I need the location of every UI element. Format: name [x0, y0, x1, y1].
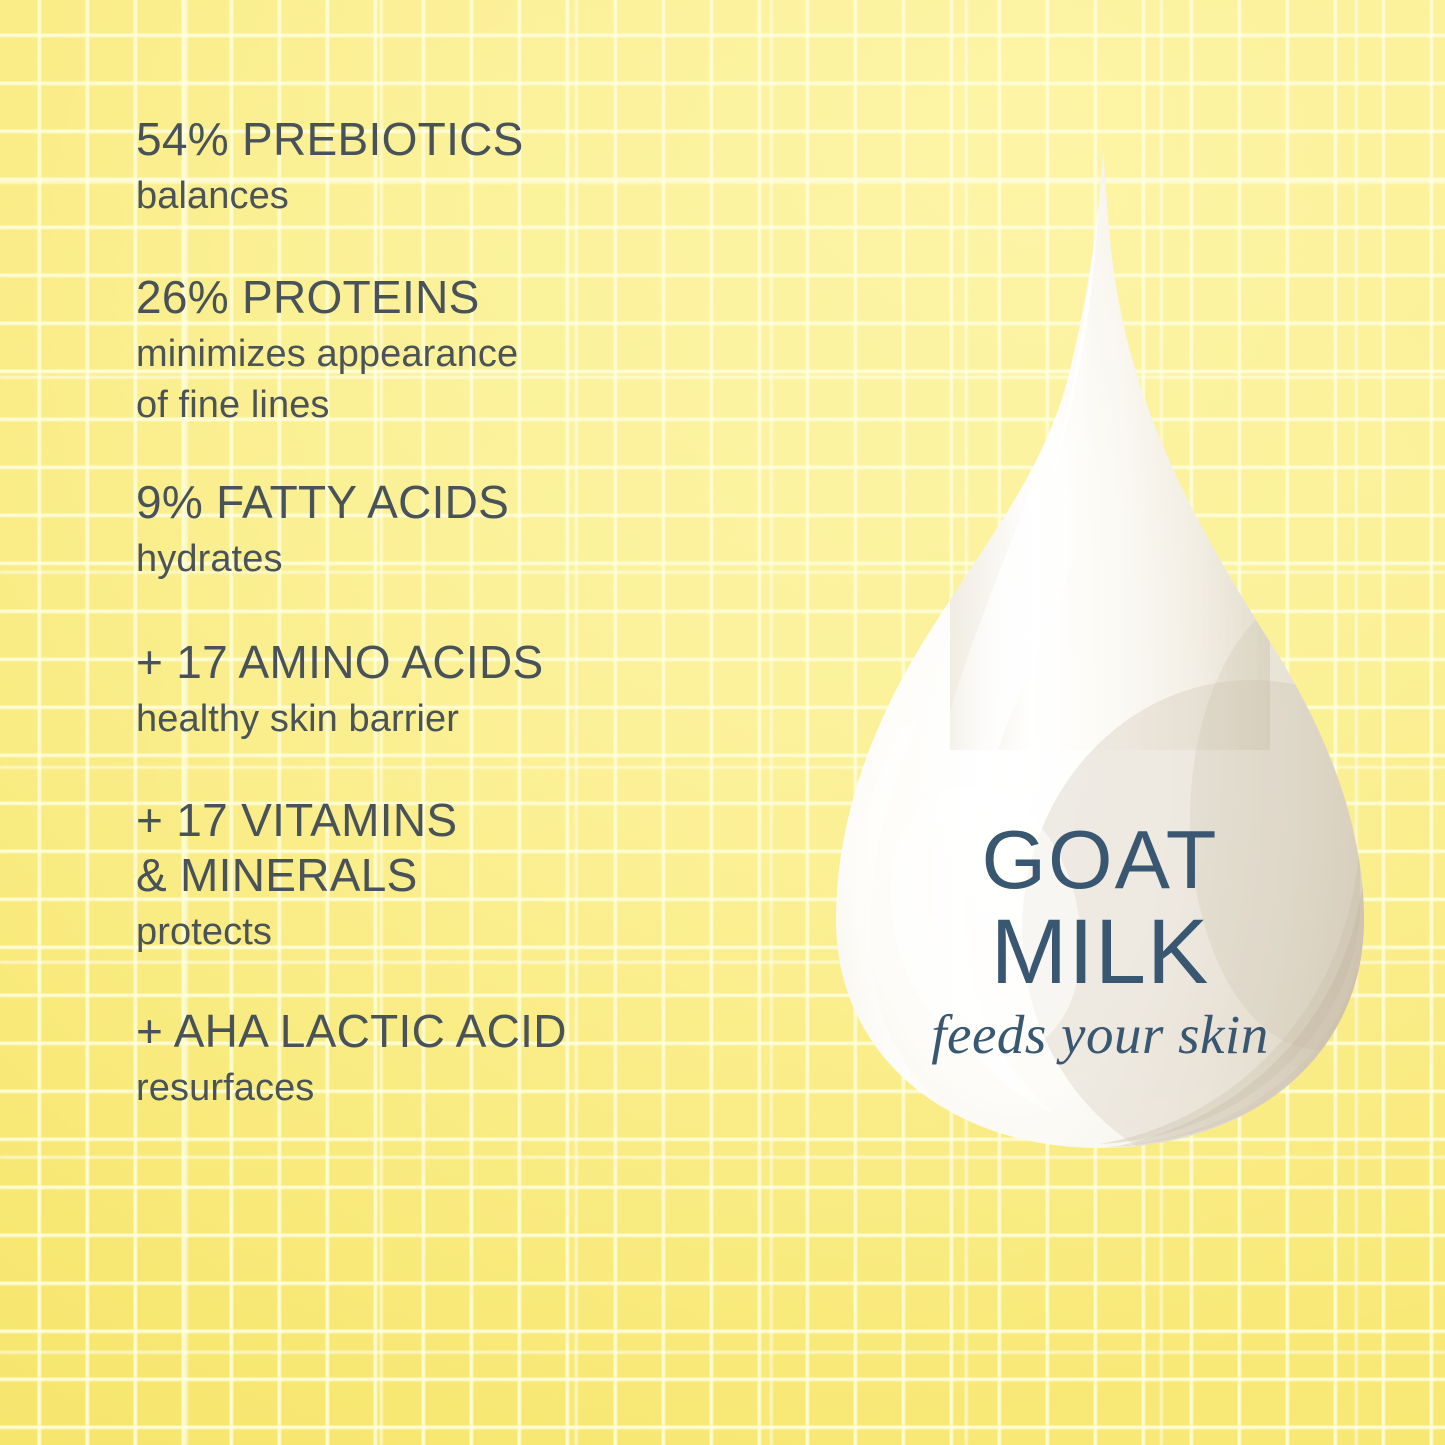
- fact-item-amino-acids: + 17 AMINO ACIDS healthy skin barrier: [136, 635, 856, 745]
- fact-item-fatty-acids: 9% FATTY ACIDS hydrates: [136, 475, 856, 585]
- fact-benefit: resurfaces: [136, 1063, 856, 1114]
- fact-benefit: healthy skin barrier: [136, 694, 856, 745]
- fact-item-proteins: 26% PROTEINS minimizes appearance of fin…: [136, 270, 856, 431]
- fact-headline: 26% PROTEINS: [136, 270, 856, 325]
- infographic-canvas: 54% PREBIOTICS balances 26% PROTEINS min…: [0, 0, 1445, 1445]
- fact-headline: + 17 VITAMINS & MINERALS: [136, 793, 856, 903]
- fact-benefit: hydrates: [136, 534, 856, 585]
- fact-benefit: balances: [136, 171, 856, 222]
- milk-droplet-icon: [800, 130, 1400, 1170]
- fact-benefit: protects: [136, 907, 856, 958]
- milk-droplet-graphic: GOAT MILK feeds your skin: [800, 130, 1400, 1170]
- fact-headline: + 17 AMINO ACIDS: [136, 635, 856, 690]
- fact-item-aha-lactic-acid: + AHA LACTIC ACID resurfaces: [136, 1004, 856, 1114]
- fact-headline: 9% FATTY ACIDS: [136, 475, 856, 530]
- fact-item-vitamins-minerals: + 17 VITAMINS & MINERALS protects: [136, 793, 856, 958]
- ingredient-fact-list: 54% PREBIOTICS balances 26% PROTEINS min…: [136, 112, 856, 1114]
- fact-headline: + AHA LACTIC ACID: [136, 1004, 856, 1059]
- fact-benefit: minimizes appearance of fine lines: [136, 329, 856, 431]
- fact-headline: 54% PREBIOTICS: [136, 112, 856, 167]
- fact-item-prebiotics: 54% PREBIOTICS balances: [136, 112, 856, 222]
